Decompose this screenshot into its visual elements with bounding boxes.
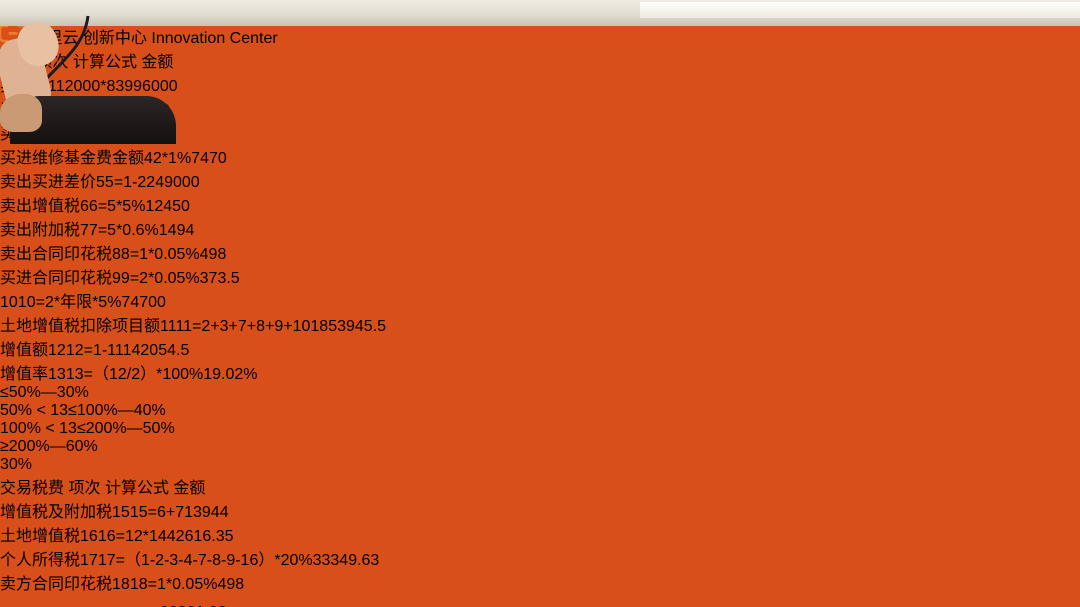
- cell-amount: 853945.5: [319, 318, 386, 335]
- left-table-header: 项目 项次 计算公式 金额: [0, 48, 1080, 72]
- table-row: 卖出买进差价55=1-2249000: [0, 168, 1080, 192]
- bracket-value: 30%: [0, 456, 1080, 474]
- cell-amount: 12450: [145, 198, 190, 215]
- cell-amount: 996000: [124, 78, 177, 95]
- cell-no: 16: [80, 528, 98, 545]
- cell-no: 5: [96, 174, 105, 191]
- right-table: 交易税费 项次 计算公式 金额 增值税及附加税1515=6+713944土地增值…: [0, 474, 1080, 607]
- cell-item: 卖出增值税: [0, 198, 80, 215]
- table-row: 土地增值税1616=12*1442616.35: [0, 522, 1080, 546]
- cell-no: 17: [80, 552, 98, 569]
- table-row: 个人所得税1717=（1-2-3-4-7-8-9-16）*20%33349.63: [0, 546, 1080, 570]
- bracket-line: 100% < 13≤200%—50%: [0, 420, 1080, 438]
- presentation-room-photo: 公寓，买进价9000，预计卖出价12000，83平米 阿里云 创新中心 Inno…: [0, 0, 1080, 607]
- cell-item: 买进维修基金费金额: [0, 150, 144, 167]
- presentation-screen: 公寓，买进价9000，预计卖出价12000，83平米 阿里云 创新中心 Inno…: [0, 0, 1080, 607]
- right-table-body: 增值税及附加税1515=6+713944土地增值税1616=12*1442616…: [0, 498, 1080, 607]
- cell-item: 卖出买进差价: [0, 174, 96, 191]
- cell-formula: 12=1-11: [66, 342, 123, 359]
- cell-formula: 8=1*0.05%: [121, 246, 200, 263]
- right-table-header: 交易税费 项次 计算公式 金额: [0, 474, 1080, 498]
- audience-neck: [0, 94, 42, 132]
- table-row: 买进合同印花税99=2*0.05%373.5: [0, 264, 1080, 288]
- table-row: 增值率1313=（12/2）*100%19.02%: [0, 360, 1080, 384]
- cell-no: 6: [80, 198, 89, 215]
- bracket-line: ≤50%—30%: [0, 384, 1080, 402]
- cell-formula: 6=5*5%: [89, 198, 146, 215]
- cell-no: 10: [0, 294, 18, 311]
- cell-formula: 7=5*0.6%: [89, 222, 159, 239]
- table-row: 卖方合同印花税1818=1*0.05%498: [0, 570, 1080, 594]
- cell-formula: 11=2+3+7+8+9+101: [176, 318, 319, 335]
- table-row: 增值额1212=1-11142054.5: [0, 336, 1080, 360]
- cell-item: 卖方合同印花税: [0, 576, 112, 593]
- cell-no: 13: [48, 366, 66, 383]
- cell-no: 18: [112, 576, 130, 593]
- cell-item: 卖出附加税: [0, 222, 80, 239]
- ceiling-light-strip: [640, 2, 1080, 18]
- cell-amount: 142054.5: [123, 342, 189, 359]
- cell-formula: 10=2*年限*5%: [18, 294, 122, 311]
- cell-item: 土地增值税扣除项目额: [0, 318, 160, 335]
- table-row: 卖出附加税77=5*0.6%1494: [0, 216, 1080, 240]
- table-row: 卖出价112000*83996000: [0, 72, 1080, 96]
- table-row: 买进维修基金费金额42*1%7470: [0, 144, 1080, 168]
- row-spacer: [0, 594, 1080, 604]
- cell-no: 4: [144, 150, 153, 167]
- cell-item: 增值额: [0, 342, 48, 359]
- table-row: 土地增值税扣除项目额1111=2+3+7+8+9+101853945.5: [0, 312, 1080, 336]
- cell-amount: 1494: [159, 222, 195, 239]
- column-header-amount: 金额: [173, 480, 205, 497]
- cell-amount: 498: [217, 576, 244, 593]
- land-vat-rate-bracket: ≤50%—30% 50% < 13≤100%—40% 100% < 13≤200…: [0, 384, 1080, 456]
- column-header-formula: 计算公式: [105, 480, 169, 497]
- cell-amount: 33349.63: [313, 552, 380, 569]
- cell-formula: 15=6+7: [130, 504, 184, 521]
- cell-amount: 373.5: [200, 270, 240, 287]
- cell-amount: 249000: [146, 174, 199, 191]
- cell-formula: 13=（12/2）*100%: [66, 366, 203, 383]
- table-row: 卖出合同印花税88=1*0.05%498: [0, 240, 1080, 264]
- bracket-line: ≥200%—60%: [0, 438, 1080, 456]
- cell-item: 增值率: [0, 366, 48, 383]
- cell-no: 12: [48, 342, 66, 359]
- cell-amount: 498: [200, 246, 227, 263]
- cell-no: 8: [112, 246, 121, 263]
- cell-formula: 17=（1-2-3-4-7-8-9-16）*20%: [98, 552, 313, 569]
- cell-item: 土地增值税: [0, 528, 80, 545]
- cell-formula: 2*1%: [153, 150, 191, 167]
- cell-item: 个人所得税: [0, 552, 80, 569]
- cell-formula: 16=12*14: [98, 528, 167, 545]
- brand-subtitle: 创新中心 Innovation Center: [83, 30, 278, 47]
- brand-subtitle-en: Innovation Center: [151, 30, 277, 47]
- cell-item: 买进合同印花税: [0, 270, 112, 287]
- bracket-line: 50% < 13≤100%—40%: [0, 402, 1080, 420]
- cell-no: 15: [112, 504, 130, 521]
- cell-no: 11: [160, 318, 176, 335]
- column-header-tax: 交易税费: [0, 480, 64, 497]
- cell-formula: 18=1*0.05%: [130, 576, 218, 593]
- cell-no: 7: [80, 222, 89, 239]
- cell-amount: 74700: [121, 294, 166, 311]
- cell-amount: 42616.35: [167, 528, 234, 545]
- slide: 公寓，买进价9000，预计卖出价12000，83平米 阿里云 创新中心 Inno…: [0, 0, 1080, 607]
- cell-item: 增值税及附加税: [0, 504, 112, 521]
- cell-amount: 7470: [191, 150, 227, 167]
- cell-formula: 5=1-2: [105, 174, 146, 191]
- brand-lockup: 阿里云 创新中心 Innovation Center: [0, 24, 1080, 48]
- table-row: 卖出增值税66=5*5%12450: [0, 192, 1080, 216]
- cell-amount: 19.02%: [203, 366, 257, 383]
- cell-item: 卖出合同印花税: [0, 246, 112, 263]
- table-row: 1010=2*年限*5%74700: [0, 288, 1080, 312]
- cell-amount: 13944: [184, 504, 229, 521]
- column-header-amount: 金额: [141, 54, 173, 71]
- column-header-no: 项次: [68, 480, 100, 497]
- cell-formula: 9=2*0.05%: [121, 270, 200, 287]
- table-row: 增值税及附加税1515=6+713944: [0, 498, 1080, 522]
- cell-no: 9: [112, 270, 121, 287]
